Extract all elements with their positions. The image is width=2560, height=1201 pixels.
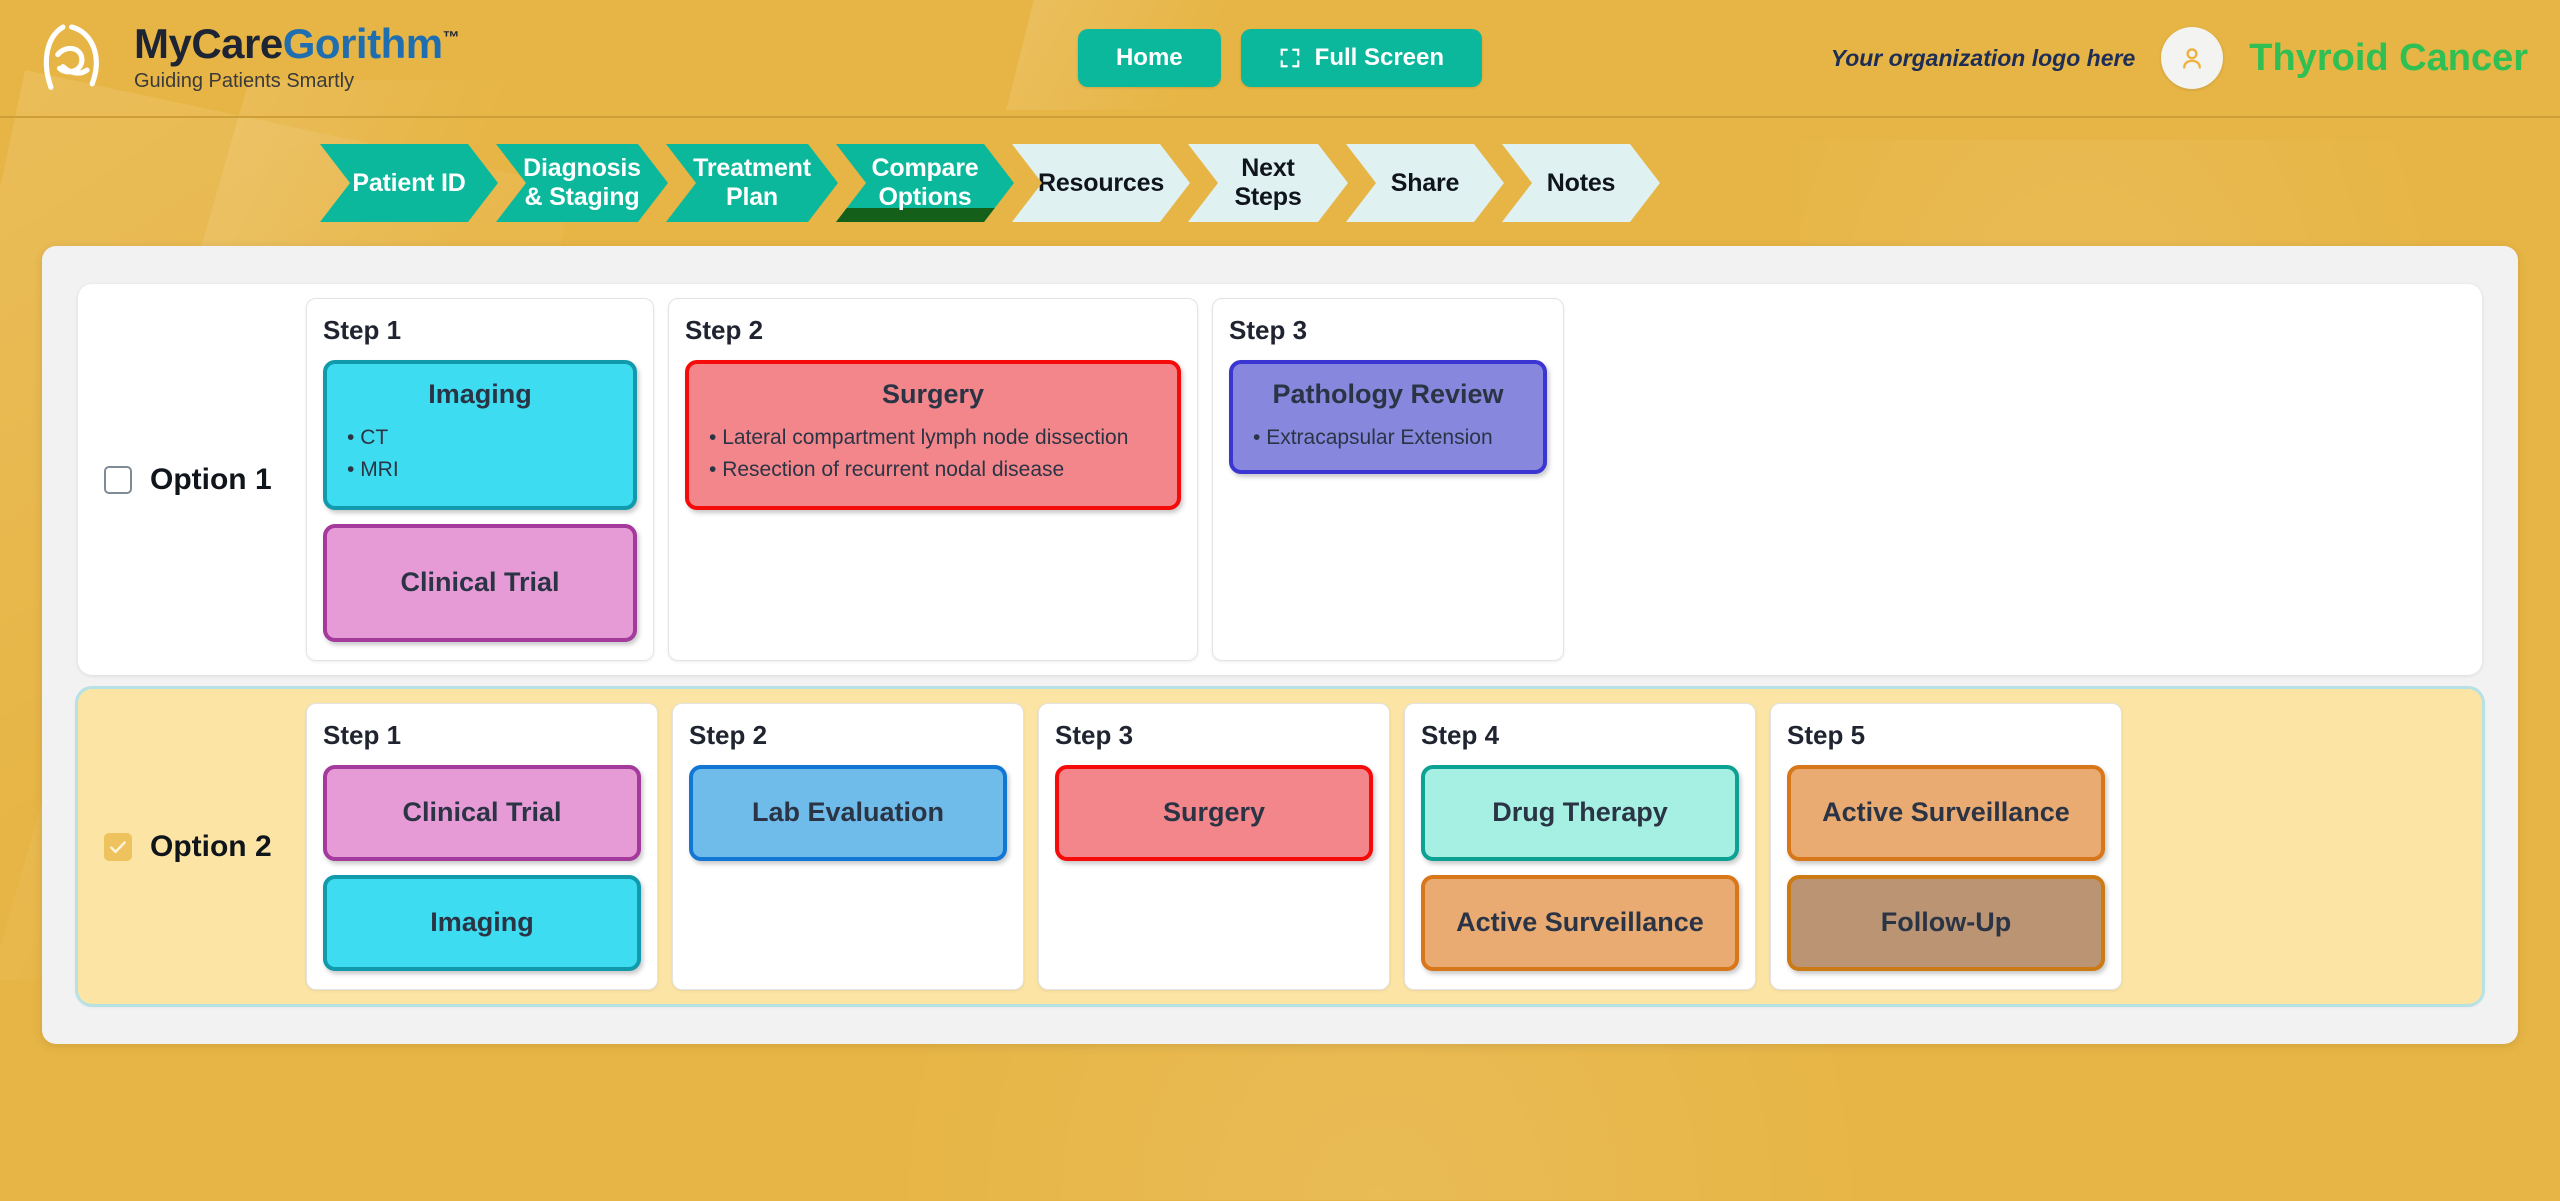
treatment-node-bullet: Extracapsular Extension (1249, 422, 1527, 454)
option-checkbox[interactable] (104, 466, 132, 494)
treatment-node-title: Drug Therapy (1441, 796, 1719, 828)
treatment-node-bullets: Lateral compartment lymph node dissectio… (705, 422, 1161, 485)
breadcrumb-step-label: Share (1391, 169, 1459, 198)
step-card-title: Step 4 (1421, 720, 1739, 751)
step-card-title: Step 3 (1229, 315, 1547, 346)
option-checkbox[interactable] (104, 833, 132, 861)
breadcrumb-step-resources[interactable]: Resources (1012, 144, 1190, 222)
treatment-node-bullet: Resection of recurrent nodal disease (705, 454, 1161, 486)
step-card: Step 5Active SurveillanceFollow-Up (1770, 703, 2122, 990)
step-card-title: Step 3 (1055, 720, 1373, 751)
brand-name-part1: MyCare (134, 20, 283, 67)
trademark-symbol: ™ (443, 28, 460, 47)
treatment-node[interactable]: Follow-Up (1787, 875, 2105, 971)
step-card: Step 3Surgery (1038, 703, 1390, 990)
treatment-node-bullet: Lateral compartment lymph node dissectio… (705, 422, 1161, 454)
abstract-thyroid-logo-icon (32, 15, 118, 101)
treatment-node-title: Active Surveillance (1441, 906, 1719, 938)
treatment-node-title: Surgery (1075, 796, 1353, 828)
step-card: Step 1Clinical TrialImaging (306, 703, 658, 990)
brand-name-part2: Gorithm (283, 20, 443, 67)
treatment-node[interactable]: SurgeryLateral compartment lymph node di… (685, 360, 1181, 510)
breadcrumb-step-label: Resources (1038, 169, 1164, 198)
breadcrumb-step-share[interactable]: Share (1346, 144, 1504, 222)
option-row[interactable]: Option 1Step 1ImagingCTMRIClinical Trial… (78, 284, 2482, 675)
step-card: Step 2Lab Evaluation (672, 703, 1024, 990)
treatment-node-bullet: MRI (343, 454, 617, 486)
breadcrumb-step-label: Next Steps (1234, 154, 1301, 212)
option-label-cell: Option 2 (94, 703, 306, 990)
treatment-node-title: Imaging (343, 378, 617, 410)
breadcrumb-step-label: Notes (1547, 169, 1615, 198)
treatment-node[interactable]: Active Surveillance (1421, 875, 1739, 971)
options-list: Option 1Step 1ImagingCTMRIClinical Trial… (78, 284, 2482, 1004)
treatment-node[interactable]: ImagingCTMRI (323, 360, 637, 510)
breadcrumb-step-notes[interactable]: Notes (1502, 144, 1660, 222)
fullscreen-icon (1279, 47, 1301, 69)
option-label-cell: Option 1 (94, 298, 306, 661)
option-name: Option 1 (150, 463, 272, 497)
breadcrumb-step-compare-options[interactable]: Compare Options (836, 144, 1014, 222)
treatment-node-bullet: CT (343, 422, 617, 454)
brand-title: MyCareGorithm™ (134, 23, 459, 66)
option-steps-strip: Step 1Clinical TrialImagingStep 2Lab Eva… (306, 703, 2122, 990)
step-card-title: Step 1 (323, 315, 637, 346)
brand-block: MyCareGorithm™ Guiding Patients Smartly (32, 15, 459, 101)
breadcrumb-step-next-steps[interactable]: Next Steps (1188, 144, 1348, 222)
treatment-node[interactable]: Imaging (323, 875, 641, 971)
page-title: Thyroid Cancer (2249, 37, 2528, 80)
treatment-node-title: Clinical Trial (343, 796, 621, 828)
step-card-title: Step 2 (689, 720, 1007, 751)
breadcrumb-step-patient-id[interactable]: Patient ID (320, 144, 498, 222)
step-card: Step 3Pathology ReviewExtracapsular Exte… (1212, 298, 1564, 661)
step-card-title: Step 2 (685, 315, 1181, 346)
treatment-node[interactable]: Active Surveillance (1787, 765, 2105, 861)
step-card-title: Step 5 (1787, 720, 2105, 751)
treatment-node-title: Pathology Review (1249, 378, 1527, 410)
breadcrumb: Patient IDDiagnosis & StagingTreatment P… (320, 144, 1658, 222)
fullscreen-button[interactable]: Full Screen (1241, 29, 1482, 87)
step-card: Step 1ImagingCTMRIClinical Trial (306, 298, 654, 661)
header-right: Your organization logo here Thyroid Canc… (1831, 27, 2528, 89)
treatment-node-title: Active Surveillance (1807, 796, 2085, 828)
home-button[interactable]: Home (1078, 29, 1221, 87)
breadcrumb-step-diagnosis-staging[interactable]: Diagnosis & Staging (496, 144, 668, 222)
treatment-node-title: Imaging (343, 906, 621, 938)
option-row[interactable]: Option 2Step 1Clinical TrialImagingStep … (78, 689, 2482, 1004)
treatment-node-bullets: CTMRI (343, 422, 617, 485)
treatment-node[interactable]: Pathology ReviewExtracapsular Extension (1229, 360, 1547, 474)
treatment-node-title: Clinical Trial (343, 566, 617, 598)
breadcrumb-step-treatment-plan[interactable]: Treatment Plan (666, 144, 838, 222)
brand-tagline: Guiding Patients Smartly (134, 70, 459, 93)
step-card-title: Step 1 (323, 720, 641, 751)
treatment-node-title: Surgery (705, 378, 1161, 410)
option-steps-strip: Step 1ImagingCTMRIClinical TrialStep 2Su… (306, 298, 1564, 661)
treatment-node-bullets: Extracapsular Extension (1249, 422, 1527, 454)
treatment-node[interactable]: Lab Evaluation (689, 765, 1007, 861)
home-button-label: Home (1116, 44, 1183, 72)
breadcrumb-step-label: Compare Options (872, 154, 979, 212)
step-card: Step 2SurgeryLateral compartment lymph n… (668, 298, 1198, 661)
treatment-node[interactable]: Clinical Trial (323, 524, 637, 642)
option-name: Option 2 (150, 830, 272, 864)
treatment-node-title: Follow-Up (1807, 906, 2085, 938)
fullscreen-button-label: Full Screen (1315, 44, 1444, 72)
treatment-node[interactable]: Surgery (1055, 765, 1373, 861)
header-actions: Home Full Screen (1078, 29, 1482, 87)
step-card: Step 4Drug TherapyActive Surveillance (1404, 703, 1756, 990)
treatment-node[interactable]: Drug Therapy (1421, 765, 1739, 861)
breadcrumb-step-label: Patient ID (352, 169, 465, 198)
org-logo-placeholder: Your organization logo here (1831, 45, 2136, 72)
treatment-node-title: Lab Evaluation (709, 796, 987, 828)
treatment-node[interactable]: Clinical Trial (323, 765, 641, 861)
user-avatar-icon[interactable] (2161, 27, 2223, 89)
compare-options-panel: Option 1Step 1ImagingCTMRIClinical Trial… (42, 246, 2518, 1044)
app-header: MyCareGorithm™ Guiding Patients Smartly … (0, 0, 2560, 118)
breadcrumb-step-label: Diagnosis & Staging (523, 154, 641, 212)
breadcrumb-step-label: Treatment Plan (693, 154, 811, 212)
